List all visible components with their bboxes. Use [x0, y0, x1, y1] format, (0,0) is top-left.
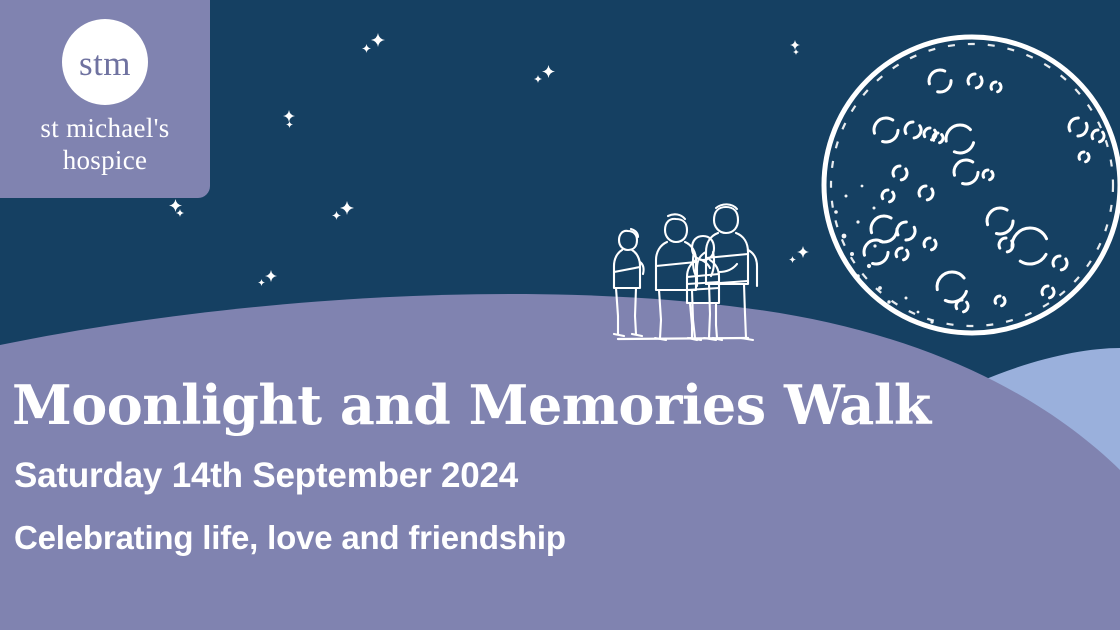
st-michaels-hospice-logo: stm st michael's hospice [0, 0, 210, 198]
poster-copy-block: Moonlight and Memories Walk Saturday 14t… [12, 378, 931, 554]
star-sparkle [534, 65, 555, 83]
star-sparkle [790, 40, 800, 55]
logo-wordmark-line-2: hospice [40, 145, 169, 177]
logo-wordmark-line-1: st michael's [40, 113, 169, 145]
star-sparkle [332, 201, 354, 220]
star-sparkle [258, 270, 277, 286]
star-sparkle [362, 33, 385, 53]
logo-wordmark: st michael's hospice [40, 113, 169, 177]
stm-monogram-circle: stm [62, 19, 148, 105]
poster-canvas: stm st michael's hospice Moonlight and M… [0, 0, 1120, 630]
poster-event-date: Saturday 14th September 2024 [14, 458, 931, 493]
stm-monogram-text: stm [79, 46, 131, 81]
star-sparkle [789, 246, 809, 263]
poster-headline: Moonlight and Memories Walk [12, 378, 931, 432]
poster-tagline: Celebrating life, love and friendship [14, 521, 931, 554]
star-sparkle [283, 110, 295, 128]
ground-line [618, 338, 748, 339]
star-sparkle [169, 199, 184, 217]
